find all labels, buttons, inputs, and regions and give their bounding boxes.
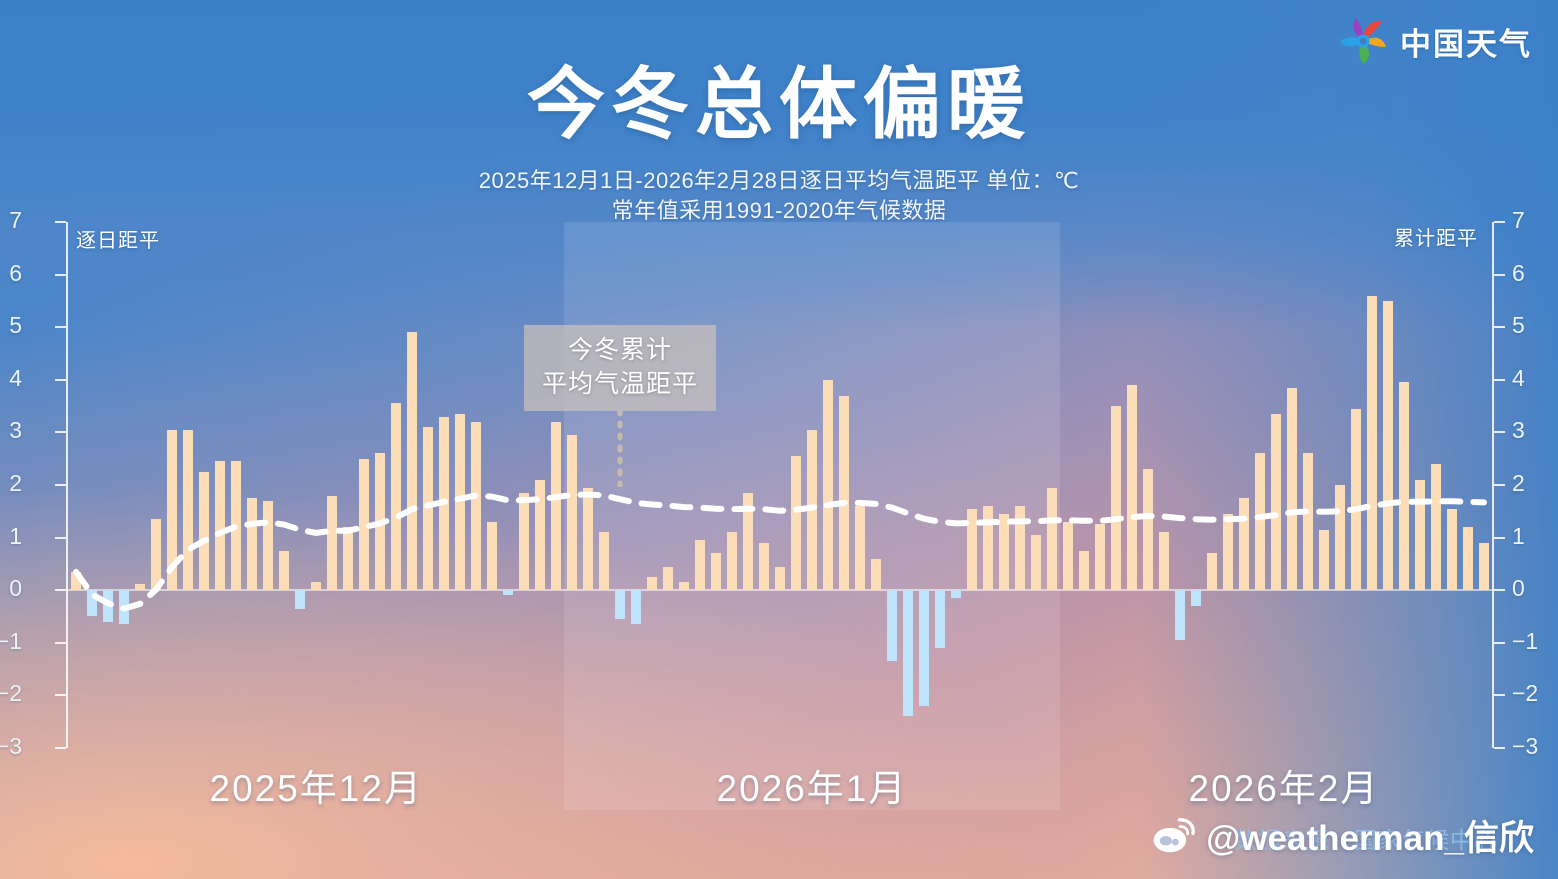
ytick-label-right--3: −3 <box>1512 733 1542 760</box>
tick-right-7 <box>1494 221 1505 223</box>
tick-right-2 <box>1494 484 1505 486</box>
ytick-label-left-7: 7 <box>0 207 22 234</box>
tick-left-4 <box>55 379 66 381</box>
ytick-label-right--2: −2 <box>1512 680 1542 707</box>
month-label-3: 2026年2月 <box>1189 758 1380 812</box>
tick-left-5 <box>55 326 66 328</box>
tick-right-0 <box>1494 589 1505 591</box>
ytick-label-right-0: 0 <box>1512 575 1542 602</box>
tick-right--3 <box>1494 747 1505 749</box>
callout-line-1: 今冬累计 <box>542 333 698 367</box>
infographic-canvas: 中国天气 今冬总体偏暖 2025年12月1日-2026年2月28日逐日平均气温距… <box>0 0 1558 879</box>
ytick-label-right-7: 7 <box>1512 207 1542 234</box>
ytick-label-left-0: 0 <box>0 575 22 602</box>
month-label-1: 2025年12月 <box>210 758 423 812</box>
ytick-label-right-4: 4 <box>1512 365 1542 392</box>
tick-left-0 <box>55 589 66 591</box>
ytick-label-right-5: 5 <box>1512 312 1542 339</box>
subtitle-line-1: 2025年12月1日-2026年2月28日逐日平均气温距平 单位：℃ <box>0 166 1558 196</box>
tick-right--2 <box>1494 694 1505 696</box>
ytick-label-left-1: 1 <box>0 523 22 550</box>
month-label-2: 2026年1月 <box>717 758 908 812</box>
callout-line-2: 平均气温距平 <box>542 367 698 401</box>
ytick-label-left--2: −2 <box>0 680 22 707</box>
ytick-label-left-3: 3 <box>0 417 22 444</box>
tick-left-1 <box>55 537 66 539</box>
ytick-label-left-2: 2 <box>0 470 22 497</box>
weibo-watermark: @weatherman_信欣 <box>1152 810 1534 861</box>
tick-right-3 <box>1494 431 1505 433</box>
tick-left-6 <box>55 274 66 276</box>
tick-left-3 <box>55 431 66 433</box>
cumulative-anomaly-line <box>68 222 1492 748</box>
ytick-label-left-6: 6 <box>0 260 22 287</box>
tick-right-4 <box>1494 379 1505 381</box>
ytick-label-right-6: 6 <box>1512 260 1542 287</box>
ytick-label-right-1: 1 <box>1512 523 1542 550</box>
ytick-label-left-4: 4 <box>0 365 22 392</box>
page-title: 今冬总体偏暖 <box>0 42 1558 154</box>
tick-left--2 <box>55 694 66 696</box>
tick-left--3 <box>55 747 66 749</box>
weibo-icon <box>1152 817 1196 855</box>
tick-right-1 <box>1494 537 1505 539</box>
tick-left--1 <box>55 642 66 644</box>
left-axis-spine <box>66 222 68 748</box>
ytick-label-right--1: −1 <box>1512 628 1542 655</box>
ytick-label-left--1: −1 <box>0 628 22 655</box>
chart-plot-area <box>68 222 1492 748</box>
ytick-label-right-3: 3 <box>1512 417 1542 444</box>
tick-left-7 <box>55 221 66 223</box>
tick-right-6 <box>1494 274 1505 276</box>
weibo-handle: @weatherman_信欣 <box>1206 810 1534 861</box>
tick-right--1 <box>1494 642 1505 644</box>
subtitle: 2025年12月1日-2026年2月28日逐日平均气温距平 单位：℃ 常年值采用… <box>0 166 1558 226</box>
ytick-label-left--3: −3 <box>0 733 22 760</box>
tick-left-2 <box>55 484 66 486</box>
ytick-label-left-5: 5 <box>0 312 22 339</box>
dotted-down-arrow-icon <box>607 411 633 487</box>
cumulative-anomaly-callout: 今冬累计 平均气温距平 <box>524 325 716 411</box>
tick-right-5 <box>1494 326 1505 328</box>
ytick-label-right-2: 2 <box>1512 470 1542 497</box>
